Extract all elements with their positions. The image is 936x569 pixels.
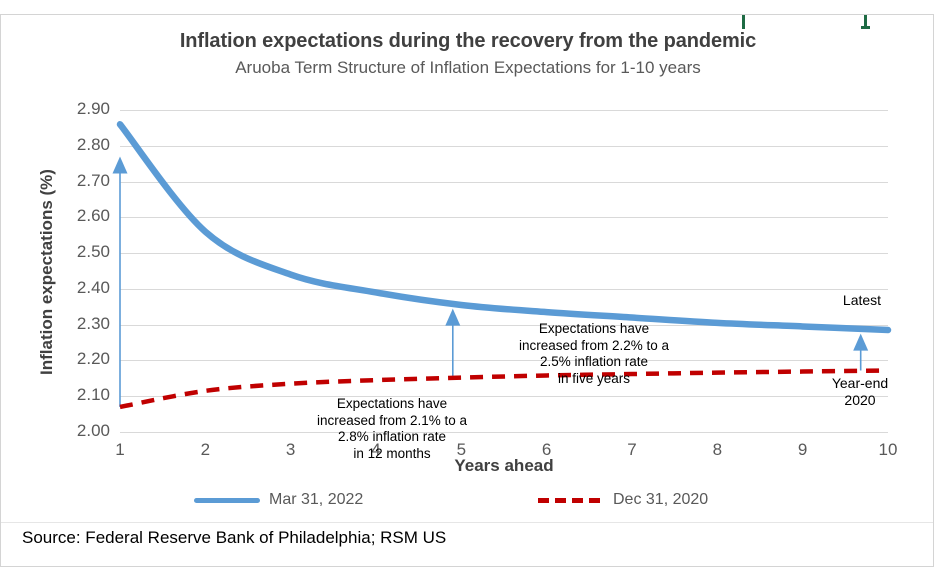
y-tick-label: 2.50 xyxy=(30,242,110,262)
arrow-group xyxy=(113,157,869,407)
x-axis-title: Years ahead xyxy=(120,456,888,476)
label-year-end-2020: Year-end 2020 xyxy=(812,375,908,409)
plot-area: 2.902.802.702.602.502.402.302.202.102.00… xyxy=(120,110,888,432)
y-tick-label: 2.70 xyxy=(30,171,110,191)
legend-swatch-solid-icon xyxy=(194,498,260,503)
annotation-arrow-1-head xyxy=(113,157,128,174)
gridline xyxy=(120,432,888,433)
annotation-arrow-2-head xyxy=(445,309,460,326)
label-latest: Latest xyxy=(824,292,900,309)
legend-item-dec-31-2020[interactable]: Dec 31, 2020 xyxy=(538,491,708,509)
chart-subtitle: Aruoba Term Structure of Inflation Expec… xyxy=(0,58,936,78)
source-note: Source: Federal Reserve Bank of Philadel… xyxy=(22,528,446,548)
source-divider xyxy=(1,522,933,523)
y-tick-label: 2.10 xyxy=(30,385,110,405)
y-tick-label: 2.60 xyxy=(30,206,110,226)
x-tick-label: 2 xyxy=(185,440,225,460)
series-line-mar-31-2022 xyxy=(120,124,888,330)
y-tick-label: 2.20 xyxy=(30,349,110,369)
annotation-arrow-3-head xyxy=(853,334,868,351)
x-tick-label: 10 xyxy=(868,440,908,460)
y-tick-label: 2.00 xyxy=(30,421,110,441)
y-tick-label: 2.80 xyxy=(30,135,110,155)
annotation-12-months: Expectations have increased from 2.1% to… xyxy=(296,396,488,462)
legend-label-mar-31-2022: Mar 31, 2022 xyxy=(269,491,363,509)
y-tick-label: 2.40 xyxy=(30,278,110,298)
y-tick-label: 2.30 xyxy=(30,314,110,334)
chart-title: Inflation expectations during the recove… xyxy=(0,30,936,53)
y-tick-label: 2.90 xyxy=(30,99,110,119)
legend-item-mar-31-2022[interactable]: Mar 31, 2022 xyxy=(194,491,363,509)
x-tick-label: 6 xyxy=(527,440,567,460)
legend-label-dec-31-2020: Dec 31, 2020 xyxy=(613,491,708,509)
inflation-expectations-chart: Inflation expectations during the recove… xyxy=(0,0,936,569)
chart-legend: Mar 31, 2022 Dec 31, 2020 xyxy=(120,491,888,517)
x-tick-label: 9 xyxy=(783,440,823,460)
annotation-five-years: Expectations have increased from 2.2% to… xyxy=(498,321,690,387)
x-tick-label: 7 xyxy=(612,440,652,460)
legend-swatch-dashed-icon xyxy=(538,498,604,503)
x-tick-label: 1 xyxy=(100,440,140,460)
x-tick-label: 8 xyxy=(697,440,737,460)
